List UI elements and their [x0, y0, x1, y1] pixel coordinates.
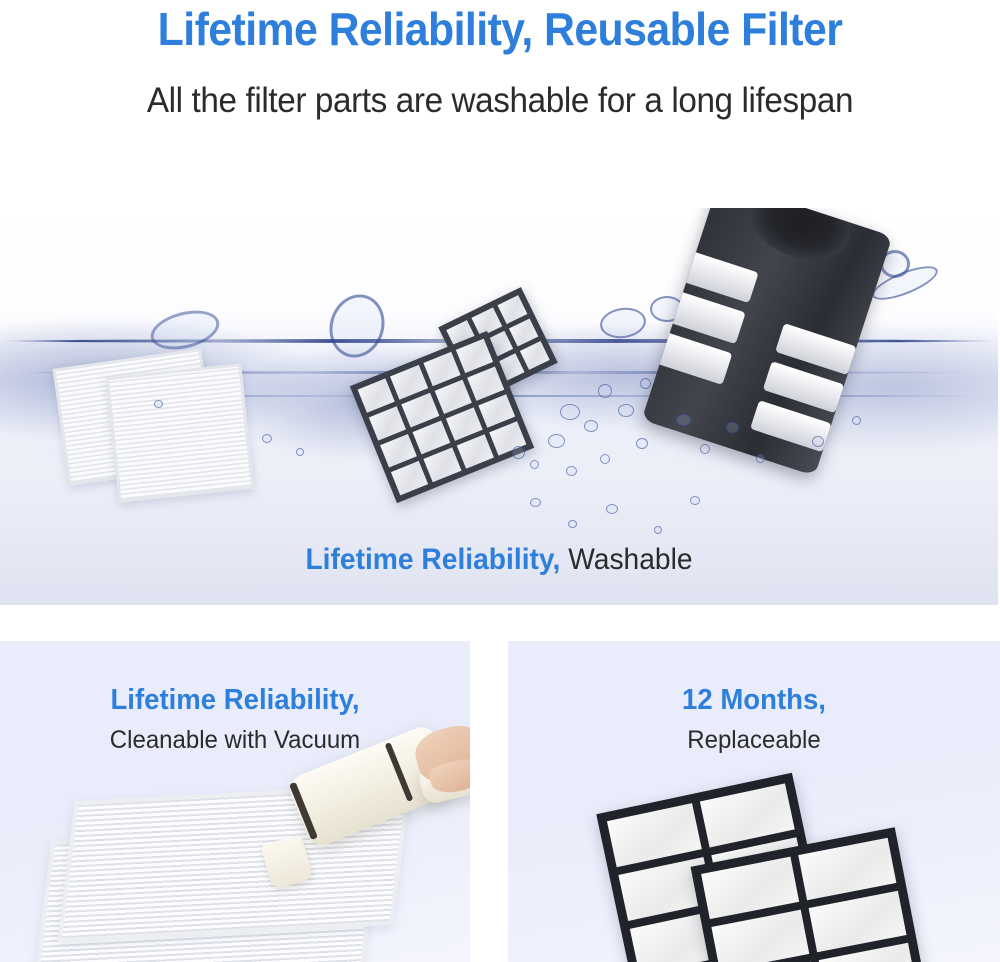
water-bubble: [262, 434, 272, 443]
mesh-filter-cell: [413, 420, 450, 454]
water-bubble: [676, 414, 691, 426]
mesh-filter-cell: [369, 406, 406, 440]
hepa-filter-cell: [701, 857, 799, 919]
mesh-filter-cell: [467, 366, 504, 400]
mesh-filter-cell: [358, 378, 395, 412]
water-bubble: [726, 422, 739, 433]
card-title: 12 Months,: [520, 681, 987, 719]
mesh-filter-cell: [380, 433, 417, 467]
water-bubble: [560, 404, 580, 420]
card-gutter: [470, 641, 508, 962]
water-bubble: [700, 444, 710, 454]
water-bubble: [654, 526, 662, 534]
feature-card-cleanable: Lifetime Reliability, Cleanable with Vac…: [0, 641, 470, 962]
water-bubble: [640, 378, 651, 389]
water-bubble: [296, 448, 304, 456]
hero-caption: Lifetime Reliability, Washable: [30, 541, 968, 579]
water-bubble: [636, 438, 648, 449]
mesh-filter-cell: [478, 394, 515, 428]
hepa-filter-cell: [711, 909, 809, 962]
hero-image-panel: Lifetime Reliability, Washable: [0, 208, 998, 605]
mesh-filter-cell: [390, 365, 427, 399]
pleated-filter-pad: [106, 363, 254, 503]
card-subtitle: Replaceable: [518, 723, 990, 757]
hero-caption-highlight: Lifetime Reliability,: [305, 543, 560, 576]
mesh-filter-cell: [434, 379, 471, 413]
water-bubble: [512, 446, 525, 459]
mesh-filter-cell: [445, 407, 482, 441]
hepa-filter-cell: [798, 838, 896, 900]
feature-card-row: Lifetime Reliability, Cleanable with Vac…: [0, 641, 1000, 962]
mesh-filter-cell: [520, 341, 550, 370]
hepa-filter-cell: [607, 803, 702, 867]
product-feature-image: Lifetime Reliability, Reusable Filter Al…: [0, 0, 1000, 962]
hero-caption-text: Washable: [568, 543, 692, 576]
mesh-filter-cell: [456, 339, 493, 373]
water-bubble: [618, 404, 634, 417]
feature-card-replaceable: 12 Months, Replaceable: [508, 641, 1000, 962]
water-bubble: [756, 454, 765, 463]
mesh-filter-cell: [423, 352, 460, 386]
water-bubble: [566, 466, 577, 476]
mesh-filter-cell: [456, 435, 493, 469]
mesh-filter-cell: [391, 461, 428, 495]
mesh-filter-cell: [497, 295, 527, 324]
water-bubble: [690, 496, 700, 505]
mesh-filter-cell: [424, 448, 461, 482]
water-bubble: [852, 416, 861, 425]
page-subtitle: All the filter parts are washable for a …: [25, 78, 975, 124]
hepa-filter-cell: [700, 783, 795, 847]
mesh-filter-cell: [401, 393, 438, 427]
water-bubble: [598, 384, 612, 398]
water-bubble: [600, 454, 610, 464]
mesh-filter-cell: [508, 318, 538, 347]
water-bubble: [584, 420, 598, 432]
hepa-filter-cell: [808, 890, 906, 952]
water-bubble: [548, 434, 565, 448]
page-title: Lifetime Reliability, Reusable Filter: [35, 0, 965, 58]
water-bubble: [530, 460, 539, 469]
water-bubble: [530, 498, 541, 507]
card-title: Lifetime Reliability,: [12, 681, 459, 719]
water-bubble: [606, 504, 618, 514]
water-bubble: [154, 400, 163, 408]
water-bubble: [568, 520, 577, 528]
water-bubble: [812, 436, 824, 447]
roller-filter-cap: [742, 208, 859, 272]
